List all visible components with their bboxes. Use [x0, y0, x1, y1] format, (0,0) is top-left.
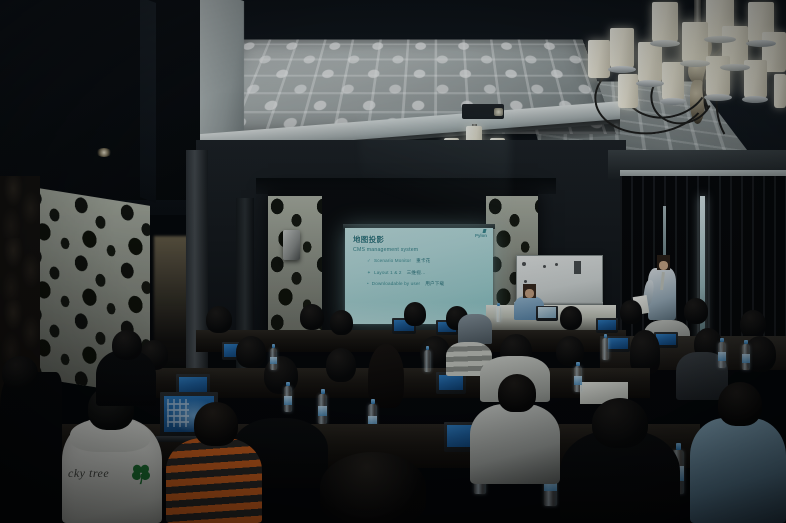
hoodie-graphic-text: cky tree: [68, 466, 132, 481]
slide-bullet-label: Layout 1 & 2: [374, 270, 402, 275]
slide-bullet-marker: ✦: [367, 270, 371, 275]
ceiling-left-dark-area: [0, 0, 200, 200]
attendee-head: [684, 298, 708, 324]
slide-bullet-label: Scenario Monitor: [374, 258, 411, 263]
bottle: [284, 386, 292, 412]
bottle: [742, 344, 750, 370]
laptop-right-a: [606, 336, 630, 352]
attendee-orange-striped-shirt: [166, 438, 262, 523]
attendee-orange-striped-head: [194, 402, 238, 446]
attendee-head: [326, 348, 356, 382]
bottle: [574, 366, 582, 392]
attendee-grey-shirt: [458, 314, 492, 344]
attendee-grey-tee-body: [470, 404, 560, 484]
bottle: [424, 350, 431, 372]
slide-bullet: ✦Layout 1 & 2三维视…: [367, 270, 485, 276]
slide-bullet-cn: 用户下载: [425, 281, 444, 286]
attendee-foreground-head: [592, 398, 648, 448]
speaker-icon: [283, 230, 300, 260]
attendee-grey-tee-head: [498, 374, 536, 412]
bottle: [318, 394, 327, 424]
attendee-head: [112, 330, 142, 360]
attendee-left-silhouette: [0, 372, 62, 523]
ceiling-cove-strip: [140, 0, 156, 203]
bottle: [602, 338, 609, 360]
bottle: [718, 342, 726, 368]
attendee-head: [560, 306, 582, 330]
slide-bullet-label: Downloadable by user: [372, 281, 420, 286]
slide-title: 地图投影: [353, 234, 485, 245]
projector-light-beam: [360, 112, 510, 242]
slide-bullet: ✓Scenario Monitor重卡花: [367, 258, 485, 264]
standing-attendee-face: [659, 261, 668, 270]
slide-subtitle: CMS management system: [353, 247, 485, 253]
four-leaf-clover-icon: [130, 462, 152, 486]
slide-bullet-marker: •: [367, 281, 369, 286]
attendee-head: [206, 306, 232, 333]
attendee-head: [236, 336, 266, 368]
slide-bullet-cn: 三维视…: [407, 270, 426, 275]
conference-room-photo: 地图投影 CMS management system ✓Scenario Mon…: [0, 0, 786, 523]
slide-bullet-cn: 重卡花: [416, 258, 430, 263]
attendee-head: [300, 304, 324, 330]
slide-logo-text: Pylon: [475, 233, 487, 238]
whiteboard-marker-holder: [574, 261, 581, 274]
downlight-purple: [96, 148, 112, 157]
bottle: [270, 348, 277, 370]
attendee-head: [740, 310, 766, 338]
attendee-blue-shirt-head: [718, 382, 762, 426]
desktop-icons: [167, 399, 189, 427]
attendee-head: [620, 300, 642, 324]
laptop-row3-d: [596, 318, 618, 333]
attendee-blue-shirt-body: [690, 418, 786, 523]
attendee-head: [404, 302, 426, 326]
bottle: [496, 306, 501, 322]
attendee-head: [330, 310, 353, 335]
chandelier-large: [588, 0, 786, 128]
laptop-presenter-screen: [538, 307, 556, 318]
presenter-face: [525, 289, 534, 298]
pillar-left: [186, 150, 208, 400]
attendee-left-head: [2, 356, 38, 390]
slide-bullet-marker: ✓: [367, 258, 371, 263]
slide-bullet: •Downloadable by user用户下载: [367, 281, 485, 287]
attendee-foreground-head: [320, 452, 426, 523]
